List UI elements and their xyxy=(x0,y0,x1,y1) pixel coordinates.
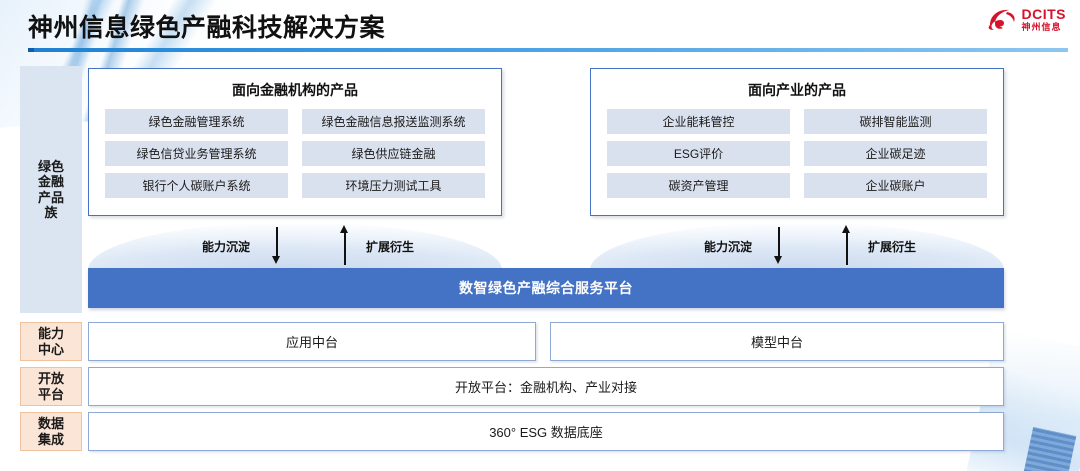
product-card[interactable]: 企业碳账户 xyxy=(804,173,987,198)
sidebar-item-label: 绿色金融产品族 xyxy=(36,159,66,220)
capability-row-app-middle-platform[interactable]: 应用中台 xyxy=(88,322,536,361)
product-grid: 企业能耗管控 碳排智能监测 ESG评价 企业碳足迹 碳资产管理 企业碳账户 xyxy=(591,109,1003,198)
arrow-up-icon xyxy=(840,225,854,267)
open-platform-row[interactable]: 开放平台：金融机构、产业对接 xyxy=(88,367,1004,406)
flow-label-capability-precipitation: 能力沉淀 xyxy=(704,238,752,255)
title-divider-cap xyxy=(28,48,34,52)
title-divider-rule xyxy=(28,48,1068,52)
capability-row-model-middle-platform[interactable]: 模型中台 xyxy=(550,322,1004,361)
product-card[interactable]: 绿色金融信息报送监测系统 xyxy=(302,109,485,134)
group-title: 面向金融机构的产品 xyxy=(89,80,501,100)
product-group-industry: 面向产业的产品 企业能耗管控 碳排智能监测 ESG评价 企业碳足迹 碳资产管理 … xyxy=(590,68,1004,216)
arrow-down-icon xyxy=(270,225,284,267)
sidebar-item-green-finance-family[interactable]: 绿色金融产品族 xyxy=(20,66,82,313)
arrow-up-icon xyxy=(338,225,352,267)
data-base-row[interactable]: 360° ESG 数据底座 xyxy=(88,412,1004,451)
sidebar-item-capability-center[interactable]: 能力中心 xyxy=(20,322,82,361)
logo-english-text: DCITS xyxy=(1022,7,1067,21)
product-card[interactable]: 绿色供应链金融 xyxy=(302,141,485,166)
sidebar-item-open-platform[interactable]: 开放平台 xyxy=(20,367,82,406)
product-card[interactable]: 环境压力测试工具 xyxy=(302,173,485,198)
logo-chinese-text: 神州信息 xyxy=(1022,23,1067,32)
product-card[interactable]: 绿色金融管理系统 xyxy=(105,109,288,134)
product-card[interactable]: 企业能耗管控 xyxy=(607,109,790,134)
product-grid: 绿色金融管理系统 绿色金融信息报送监测系统 绿色信贷业务管理系统 绿色供应链金融… xyxy=(89,109,501,198)
flow-arrows-right: 能力沉淀 扩展衍生 xyxy=(590,222,1004,270)
flow-label-expansion-derivation: 扩展衍生 xyxy=(868,238,916,255)
flow-label-expansion-derivation: 扩展衍生 xyxy=(366,238,414,255)
flow-label-capability-precipitation: 能力沉淀 xyxy=(202,238,250,255)
sidebar-item-label: 数据集成 xyxy=(36,416,66,447)
product-card[interactable]: 银行个人碳账户系统 xyxy=(105,173,288,198)
sidebar-item-data-integration[interactable]: 数据集成 xyxy=(20,412,82,451)
brand-logo: DCITS 神州信息 xyxy=(987,6,1067,32)
product-card[interactable]: ESG评价 xyxy=(607,141,790,166)
group-title: 面向产业的产品 xyxy=(591,80,1003,100)
platform-banner[interactable]: 数智绿色产融综合服务平台 xyxy=(88,268,1004,308)
dcits-swoosh-icon xyxy=(987,6,1017,32)
logo-text-block: DCITS 神州信息 xyxy=(1022,7,1067,32)
page-title: 神州信息绿色产融科技解决方案 xyxy=(28,8,385,44)
flow-arrows-left: 能力沉淀 扩展衍生 xyxy=(88,222,502,270)
product-card[interactable]: 绿色信贷业务管理系统 xyxy=(105,141,288,166)
product-card[interactable]: 碳资产管理 xyxy=(607,173,790,198)
sidebar-item-label: 能力中心 xyxy=(36,326,66,357)
sidebar-item-label: 开放平台 xyxy=(36,371,66,402)
arrow-down-icon xyxy=(772,225,786,267)
product-card[interactable]: 碳排智能监测 xyxy=(804,109,987,134)
bottom-right-stripe-decoration xyxy=(1024,427,1077,471)
product-card[interactable]: 企业碳足迹 xyxy=(804,141,987,166)
product-group-financial-institutions: 面向金融机构的产品 绿色金融管理系统 绿色金融信息报送监测系统 绿色信贷业务管理… xyxy=(88,68,502,216)
